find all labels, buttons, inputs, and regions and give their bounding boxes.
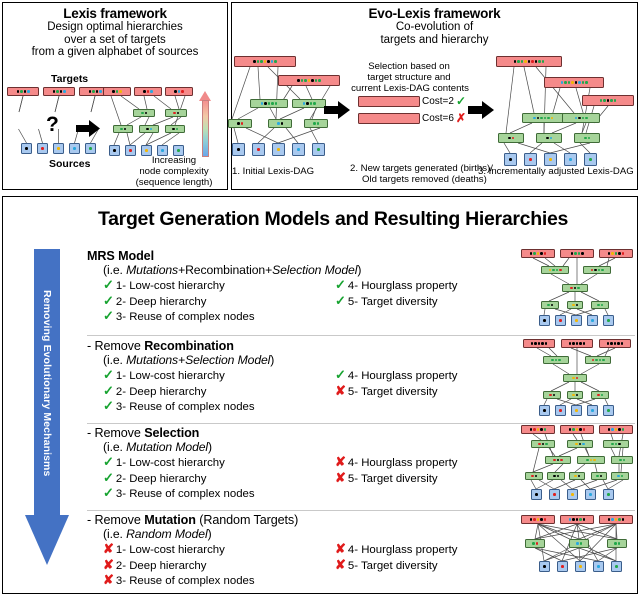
symbol-dot — [571, 493, 574, 496]
symbol-dot — [615, 252, 618, 255]
symbol-dot — [593, 459, 596, 462]
check-icon: ✓ — [103, 455, 114, 468]
symbol-dot — [257, 60, 260, 63]
property-item-3: ✓3- Reuse of complex nodes — [103, 399, 255, 413]
model-subtitle-part: ) — [357, 263, 361, 277]
selection-note-1: Selection based on — [352, 61, 466, 72]
symbol-dot — [618, 252, 621, 255]
removing-mechanisms-label: Removing Evolutionary Mechanisms — [41, 290, 53, 476]
source-node — [587, 315, 598, 326]
intermediate-node — [591, 301, 609, 309]
symbol-dot — [590, 459, 593, 462]
symbol-dot — [53, 90, 56, 93]
property-label: 2- Deep hierarchy — [116, 386, 207, 398]
symbol-dot — [622, 428, 625, 431]
intermediate-node — [541, 266, 569, 274]
symbol-dot — [99, 90, 102, 93]
property-item-3: ✘3- Reuse of complex nodes — [103, 573, 255, 587]
symbol-dot — [297, 148, 300, 151]
symbol-dot — [589, 158, 592, 161]
symbol-dot — [572, 518, 575, 521]
property-item-4: ✓4- Hourglass property — [335, 278, 457, 292]
intermediate-node — [569, 539, 589, 548]
symbol-dot — [557, 459, 560, 462]
hierarchy-thumbnail-1 — [519, 247, 635, 327]
evo-panel-subtitle-2: targets and hierarchy — [232, 34, 637, 47]
symbol-dot — [257, 148, 260, 151]
symbol-dot — [537, 518, 540, 521]
intermediate-node — [585, 356, 611, 364]
cost-reject-label: Cost=6 — [422, 113, 454, 124]
cross-icon: ✘ — [335, 471, 346, 484]
source-node — [272, 143, 285, 156]
intermediate-node — [541, 301, 559, 309]
symbol-dot — [253, 60, 256, 63]
symbol-dot — [618, 518, 621, 521]
symbol-dot — [544, 252, 547, 255]
symbol-dot — [574, 475, 577, 478]
symbol-dot — [608, 518, 611, 521]
dag-edges — [490, 53, 640, 161]
property-label: 3- Reuse of complex nodes — [116, 401, 255, 413]
symbol-dot — [310, 102, 313, 105]
target-node — [278, 75, 340, 86]
symbol-dot — [584, 137, 587, 140]
symbol-dot — [583, 518, 586, 521]
symbol-dot — [530, 252, 533, 255]
cross-icon: ✘ — [103, 558, 114, 571]
cross-icon: ✘ — [103, 542, 114, 555]
cross-icon: ✘ — [335, 542, 346, 555]
symbol-dot — [579, 443, 582, 446]
symbol-dot — [576, 304, 579, 307]
symbol-dot — [623, 459, 626, 462]
adjusted-lexis-dag — [490, 53, 640, 161]
property-item-1: ✓1- Low-cost hierarchy — [103, 278, 225, 292]
symbol-dot — [150, 128, 153, 131]
intermediate-node — [562, 284, 588, 292]
intermediate-node — [611, 456, 633, 464]
symbol-dot — [576, 377, 579, 380]
source-node — [571, 315, 582, 326]
symbol-dot — [161, 149, 164, 152]
symbol-dot — [585, 81, 588, 84]
source-node — [585, 489, 596, 500]
intermediate-node — [583, 266, 611, 274]
lexis-transform-arrow — [76, 120, 100, 137]
symbol-dot — [549, 269, 552, 272]
model-subtitle-part: Mutations+Selection Model — [126, 353, 270, 367]
property-item-5: ✘5- Target diversity — [335, 558, 438, 572]
model-name-prefix: - Remove — [87, 513, 144, 527]
symbol-dot — [550, 137, 553, 140]
symbol-dot — [599, 359, 602, 362]
symbol-dot — [597, 304, 600, 307]
symbol-dot — [141, 112, 144, 115]
symbol-dot — [601, 394, 604, 397]
symbol-dot — [553, 394, 556, 397]
symbol-dot — [530, 428, 533, 431]
symbol-dot — [557, 475, 560, 478]
source-node — [21, 143, 32, 154]
symbol-dot — [592, 359, 595, 362]
model-subtitle-part: (i.e. — [103, 527, 126, 541]
intermediate-node — [139, 125, 159, 133]
model-name-prefix: - Remove — [87, 339, 144, 353]
page-title: Target Generation Models and Resulting H… — [3, 197, 637, 231]
source-node — [539, 405, 550, 416]
evo-arrow-1 — [324, 101, 350, 119]
symbol-dot — [586, 459, 589, 462]
symbol-dot — [607, 409, 610, 412]
symbol-dot — [56, 90, 59, 93]
symbol-dot — [528, 60, 531, 63]
symbol-dot — [41, 147, 44, 150]
symbol-dot — [578, 252, 581, 255]
source-node — [504, 153, 517, 166]
symbol-dot — [564, 81, 567, 84]
symbol-dot — [150, 90, 153, 93]
property-label: 1- Low-cost hierarchy — [116, 370, 225, 382]
target-node — [523, 339, 555, 348]
symbol-dot — [571, 81, 574, 84]
source-node — [292, 143, 305, 156]
model-subtitle-part: (i.e. — [103, 263, 126, 277]
symbol-dot — [303, 102, 306, 105]
symbol-dot — [558, 359, 561, 362]
lexis-framework-panel: Lexis framework Design optimal hierarchi… — [2, 2, 228, 190]
symbol-dot — [618, 542, 621, 545]
symbol-dot — [543, 565, 546, 568]
symbol-dot — [277, 122, 280, 125]
symbol-dot — [551, 117, 554, 120]
symbol-dot — [547, 304, 550, 307]
symbol-dot — [531, 342, 534, 345]
hierarchy-thumbnail-4 — [519, 511, 635, 579]
symbol-dot — [508, 137, 511, 140]
symbol-dot — [268, 102, 271, 105]
symbol-dot — [540, 117, 543, 120]
source-node — [603, 489, 614, 500]
symbol-dot — [89, 147, 92, 150]
symbol-dot — [532, 542, 535, 545]
selection-note-2: target structure and — [352, 72, 466, 83]
symbol-dot — [571, 252, 574, 255]
property-label: 2- Deep hierarchy — [116, 473, 207, 485]
property-label: 4- Hourglass property — [348, 544, 458, 556]
intermediate-node — [567, 391, 583, 399]
cross-icon: ✘ — [103, 573, 114, 586]
intermediate-node — [292, 99, 326, 108]
source-node — [567, 489, 578, 500]
symbol-dot — [622, 252, 625, 255]
symbol-dot — [600, 99, 603, 102]
symbol-dot — [120, 128, 123, 131]
candidate-target-accepted — [358, 96, 420, 107]
symbol-dot — [579, 565, 582, 568]
symbol-dot — [611, 252, 614, 255]
question-mark: ? — [46, 113, 59, 137]
symbol-dot — [596, 475, 599, 478]
symbol-dot — [317, 148, 320, 151]
symbol-dot — [544, 518, 547, 521]
intermediate-node — [525, 539, 545, 548]
symbol-dot — [274, 60, 277, 63]
symbol-dot — [621, 475, 624, 478]
symbol-dot — [572, 428, 575, 431]
symbol-dot — [304, 79, 307, 82]
intermediate-node — [545, 456, 571, 464]
target-node — [496, 56, 562, 67]
symbol-dot — [556, 269, 559, 272]
cross-icon: ✘ — [335, 384, 346, 397]
lexis-panel-title: Lexis framework — [3, 6, 227, 21]
step2-caption-1: 2. New targets generated (births)/ — [350, 163, 493, 174]
source-node — [252, 143, 265, 156]
symbol-dot — [577, 287, 580, 290]
model-subtitle-part: (i.e. — [103, 440, 126, 454]
check-icon: ✓ — [103, 278, 114, 291]
symbol-dot — [615, 428, 618, 431]
symbol-dot — [267, 60, 270, 63]
target-node — [544, 77, 604, 88]
check-icon: ✓ — [103, 471, 114, 484]
target-node — [234, 56, 296, 67]
symbol-dot — [602, 359, 605, 362]
intermediate-node — [607, 539, 627, 548]
symbol-dot — [576, 428, 579, 431]
symbol-dot — [581, 252, 584, 255]
symbol-dot — [615, 443, 618, 446]
symbol-dot — [572, 377, 575, 380]
model-subtitle-part: ) — [208, 440, 212, 454]
symbol-dot — [582, 117, 585, 120]
source-node — [37, 143, 48, 154]
symbol-dot — [568, 81, 571, 84]
symbol-dot — [147, 90, 150, 93]
symbol-dot — [264, 102, 267, 105]
property-item-4: ✓4- Hourglass property — [335, 368, 457, 382]
model-name-main: MRS Model — [87, 249, 154, 263]
property-label: 5- Target diversity — [348, 473, 438, 485]
removing-mechanisms-arrow: Removing Evolutionary Mechanisms — [25, 249, 69, 567]
property-label: 3- Reuse of complex nodes — [116, 488, 255, 500]
symbol-dot — [569, 342, 572, 345]
symbol-dot — [591, 269, 594, 272]
symbol-dot — [574, 252, 577, 255]
symbol-dot — [588, 137, 591, 140]
property-item-3: ✓3- Reuse of complex nodes — [103, 486, 255, 500]
symbol-dot — [547, 117, 550, 120]
symbol-dot — [517, 60, 520, 63]
symbol-dot — [582, 81, 585, 84]
check-icon: ✓ — [335, 294, 346, 307]
symbol-dot — [610, 99, 613, 102]
source-node — [53, 143, 64, 154]
symbol-dot — [621, 342, 624, 345]
symbol-dot — [24, 90, 27, 93]
symbol-dot — [601, 269, 604, 272]
cost-accept-check-icon: ✓ — [456, 94, 466, 108]
symbol-dot — [177, 112, 180, 115]
symbol-dot — [579, 518, 582, 521]
check-icon: ✓ — [335, 368, 346, 381]
property-label: 5- Target diversity — [348, 560, 438, 572]
symbol-dot — [544, 117, 547, 120]
check-icon: ✓ — [103, 368, 114, 381]
intermediate-node — [591, 472, 607, 480]
symbol-dot — [546, 137, 549, 140]
model-subtitle-part: Random Model — [126, 527, 207, 541]
symbol-dot — [531, 60, 534, 63]
model-name-suffix: (Random Targets) — [196, 513, 298, 527]
symbol-dot — [308, 79, 311, 82]
symbol-dot — [143, 90, 146, 93]
lexis-solved-dag — [103, 87, 185, 159]
symbol-dot — [572, 394, 575, 397]
model-name-main: Selection — [144, 426, 199, 440]
source-node — [587, 405, 598, 416]
intermediate-node — [228, 119, 252, 128]
symbol-dot — [545, 342, 548, 345]
cost-accept-label: Cost=2 — [422, 96, 454, 107]
symbol-dot — [622, 518, 625, 521]
symbol-dot — [559, 319, 562, 322]
target-node — [134, 87, 162, 96]
symbol-dot — [538, 60, 541, 63]
symbol-dot — [618, 443, 621, 446]
symbol-dot — [553, 459, 556, 462]
lexis-panel-subtitle-1: Design optimal hierarchies — [3, 21, 227, 34]
target-node — [599, 339, 631, 348]
intermediate-node — [577, 456, 605, 464]
symbol-dot — [524, 60, 527, 63]
symbol-dot — [25, 147, 28, 150]
model-subtitle-part: ) — [208, 527, 212, 541]
symbol-dot — [611, 443, 614, 446]
symbol-dot — [543, 319, 546, 322]
property-label: 5- Target diversity — [348, 386, 438, 398]
symbol-dot — [545, 443, 548, 446]
symbol-dot — [281, 122, 284, 125]
model-name-main: Recombination — [144, 339, 234, 353]
intermediate-node — [611, 472, 629, 480]
symbol-dot — [549, 158, 552, 161]
property-item-2: ✓2- Deep hierarchy — [103, 294, 206, 308]
target-node — [599, 425, 633, 434]
symbol-dot — [615, 565, 618, 568]
symbol-dot — [57, 147, 60, 150]
symbol-dot — [27, 90, 30, 93]
symbol-dot — [549, 394, 552, 397]
symbol-dot — [582, 443, 585, 446]
intermediate-node — [304, 119, 328, 128]
symbol-dot — [576, 394, 579, 397]
target-node — [582, 95, 634, 106]
source-node — [539, 561, 550, 572]
symbol-dot — [89, 90, 92, 93]
property-label: 1- Low-cost hierarchy — [116, 457, 225, 469]
symbol-dot — [551, 304, 554, 307]
symbol-dot — [611, 518, 614, 521]
property-label: 2- Deep hierarchy — [116, 560, 207, 572]
intermediate-node — [567, 440, 593, 448]
step3-caption: 3. Incrementally adjusted Lexis-DAG — [478, 166, 634, 177]
model-subtitle-part: ) — [270, 353, 274, 367]
symbol-dot — [576, 518, 579, 521]
symbol-dot — [583, 428, 586, 431]
symbol-dot — [569, 428, 572, 431]
model-subtitle-part: +Recombination+ — [178, 263, 272, 277]
intermediate-node — [133, 109, 155, 117]
source-node — [69, 143, 80, 154]
intermediate-node — [531, 440, 555, 448]
target-node — [560, 425, 594, 434]
symbol-dot — [116, 90, 119, 93]
lexis-panel-subtitle-3: from a given alphabet of sources — [3, 46, 227, 59]
selection-note-3: current Lexis-DAG contents — [350, 83, 470, 94]
source-node — [593, 561, 604, 572]
symbol-dot — [96, 90, 99, 93]
symbol-dot — [611, 428, 614, 431]
property-item-2: ✓2- Deep hierarchy — [103, 471, 206, 485]
gradient-legend-line-1: Increasing — [121, 155, 227, 166]
symbol-dot — [591, 409, 594, 412]
symbol-dot — [615, 518, 618, 521]
symbol-dot — [575, 443, 578, 446]
symbol-dot — [129, 149, 132, 152]
model-subtitle-part: Mutation Model — [126, 440, 208, 454]
intermediate-node — [562, 113, 600, 123]
model-name-main: Mutation — [144, 513, 196, 527]
target-node — [7, 87, 39, 96]
lexis-panel-subtitle-2: over a set of targets — [3, 34, 227, 47]
symbol-dot — [591, 319, 594, 322]
cross-icon: ✘ — [335, 455, 346, 468]
symbol-dot — [583, 342, 586, 345]
target-node — [43, 87, 75, 96]
evo-panel-title: Evo-Lexis framework — [232, 6, 637, 21]
symbol-dot — [543, 409, 546, 412]
symbol-dot — [553, 493, 556, 496]
symbol-dot — [551, 359, 554, 362]
symbol-dot — [614, 99, 617, 102]
symbol-dot — [570, 287, 573, 290]
symbol-dot — [542, 443, 545, 446]
symbol-dot — [178, 90, 181, 93]
symbol-dot — [529, 158, 532, 161]
symbol-dot — [578, 81, 581, 84]
gradient-legend-line-2: node complexity — [121, 166, 227, 177]
symbol-dot — [576, 342, 579, 345]
target-node — [560, 249, 594, 258]
intermediate-node — [591, 391, 609, 399]
symbol-dot — [555, 359, 558, 362]
symbol-dot — [607, 342, 610, 345]
symbol-dot — [585, 117, 588, 120]
symbol-dot — [572, 342, 575, 345]
symbol-dot — [531, 475, 534, 478]
symbol-dot — [60, 90, 63, 93]
property-label: 1- Low-cost hierarchy — [116, 280, 225, 292]
target-node — [599, 515, 633, 524]
intermediate-node — [522, 113, 564, 123]
symbol-dot — [297, 79, 300, 82]
symbol-dot — [574, 287, 577, 290]
property-item-1: ✓1- Low-cost hierarchy — [103, 455, 225, 469]
model-subtitle-part: (i.e. — [103, 353, 126, 367]
symbol-dot — [264, 60, 267, 63]
